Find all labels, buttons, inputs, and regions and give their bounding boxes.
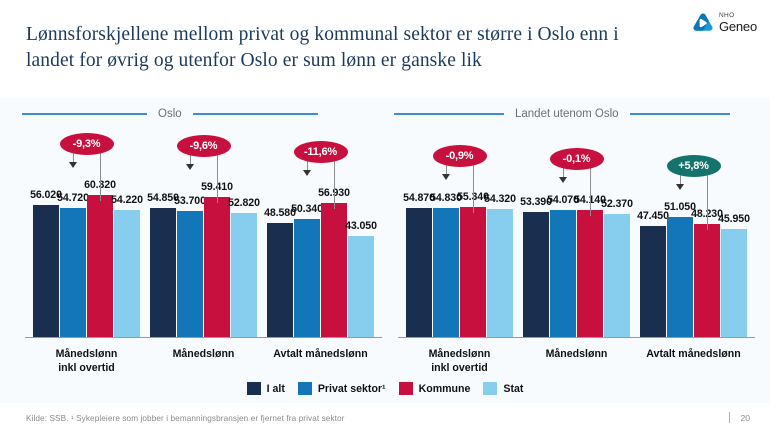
panel-title: Oslo	[158, 108, 182, 120]
bar[interactable]	[406, 208, 432, 337]
legend-item[interactable]: I alt	[247, 382, 285, 395]
category-label: Månedslønninkl overtid	[19, 347, 154, 375]
legend-item[interactable]: Kommune	[399, 382, 471, 395]
bar[interactable]	[114, 210, 140, 337]
callout-badge: -0,9%	[433, 145, 487, 167]
axis-baseline	[398, 337, 755, 338]
header-rule-right	[193, 113, 318, 115]
bar[interactable]	[721, 229, 747, 337]
callout-arrow-icon	[69, 162, 77, 168]
bar[interactable]	[231, 213, 257, 337]
bar[interactable]	[550, 210, 576, 337]
bar-value-label: 43.050	[342, 220, 380, 232]
category-label: Avtalt månedslønn	[253, 347, 388, 361]
header-rule-left	[394, 113, 504, 115]
bar[interactable]	[294, 219, 320, 337]
legend-swatch-icon	[399, 382, 413, 395]
bar[interactable]	[433, 208, 459, 337]
callout-leader-line	[334, 155, 335, 209]
bar[interactable]	[640, 226, 666, 337]
legend-swatch-icon	[247, 382, 261, 395]
bar-value-label: 52.370	[598, 198, 636, 210]
callout-arrow-icon	[303, 170, 311, 176]
bar[interactable]	[667, 217, 693, 337]
bar[interactable]	[348, 236, 374, 337]
callout-leader-line	[707, 169, 708, 230]
page-number-value: 20	[740, 413, 750, 423]
bar[interactable]	[204, 197, 230, 337]
page-number: 20	[729, 412, 750, 423]
callout-arrow-icon	[442, 174, 450, 180]
callout-badge: -0,1%	[550, 148, 604, 170]
bar[interactable]	[523, 212, 549, 337]
legend-swatch-icon	[483, 382, 497, 395]
triangle-logo-icon	[692, 12, 714, 34]
bar[interactable]	[487, 209, 513, 337]
page-title: Lønnsforskjellene mellom privat og kommu…	[26, 22, 666, 74]
callout-leader-line	[217, 149, 218, 203]
category-label: Månedslønninkl overtid	[392, 347, 527, 375]
category-label: Avtalt månedslønn	[626, 347, 761, 361]
bar[interactable]	[577, 210, 603, 337]
chart-legend: I altPrivat sektor¹KommuneStat	[0, 382, 770, 395]
callout-arrow-icon	[186, 164, 194, 170]
callout-leader-line	[590, 162, 591, 216]
category-label: Månedslønn	[136, 347, 271, 361]
callout-arrow-icon	[676, 184, 684, 190]
category-label: Månedslønn	[509, 347, 644, 361]
bar[interactable]	[87, 195, 113, 337]
panel-header-landet: Landet utenom Oslo	[394, 108, 730, 120]
brand-logo: NHO Geneo	[692, 12, 757, 34]
bar[interactable]	[33, 205, 59, 337]
callout-badge: -9,3%	[60, 133, 114, 155]
source-note: Kilde: SSB. ¹ Sykepleiere som jobber i b…	[26, 414, 345, 423]
callout-leader-line	[473, 159, 474, 213]
chart-panel: Oslo56.02054.72060.32054.220Månedslønnin…	[0, 98, 770, 403]
panel-title: Landet utenom Oslo	[515, 108, 619, 120]
callout-badge: -9,6%	[177, 135, 231, 157]
legend-item[interactable]: Stat	[483, 382, 523, 395]
callout-badge: +5,8%	[667, 155, 721, 177]
bar[interactable]	[604, 214, 630, 337]
callout-badge: -11,6%	[294, 141, 348, 163]
bar-value-label: 45.950	[715, 213, 753, 225]
bar[interactable]	[177, 211, 203, 337]
legend-item[interactable]: Privat sektor¹	[298, 382, 386, 395]
legend-label: Stat	[503, 383, 523, 395]
legend-label: Privat sektor¹	[318, 383, 386, 395]
legend-swatch-icon	[298, 382, 312, 395]
bar[interactable]	[267, 223, 293, 337]
callout-arrow-icon	[559, 177, 567, 183]
bar[interactable]	[60, 208, 86, 337]
bar-chart-plot: Oslo56.02054.72060.32054.220Månedslønnin…	[0, 98, 770, 403]
header-rule-left	[22, 113, 147, 115]
bar-value-label: 54.220	[108, 194, 146, 206]
callout-leader-line	[100, 147, 101, 201]
bar[interactable]	[694, 224, 720, 337]
header-rule-right	[630, 113, 730, 115]
panel-header-oslo: Oslo	[22, 108, 318, 120]
bar[interactable]	[150, 208, 176, 337]
bar-value-label: 54.320	[481, 193, 519, 205]
bar[interactable]	[460, 207, 486, 337]
axis-baseline	[25, 337, 382, 338]
logo-geneo-text: Geneo	[719, 20, 757, 33]
legend-label: I alt	[267, 383, 285, 395]
page-separator-icon	[729, 412, 730, 423]
legend-label: Kommune	[419, 383, 471, 395]
bar-value-label: 52.820	[225, 197, 263, 209]
